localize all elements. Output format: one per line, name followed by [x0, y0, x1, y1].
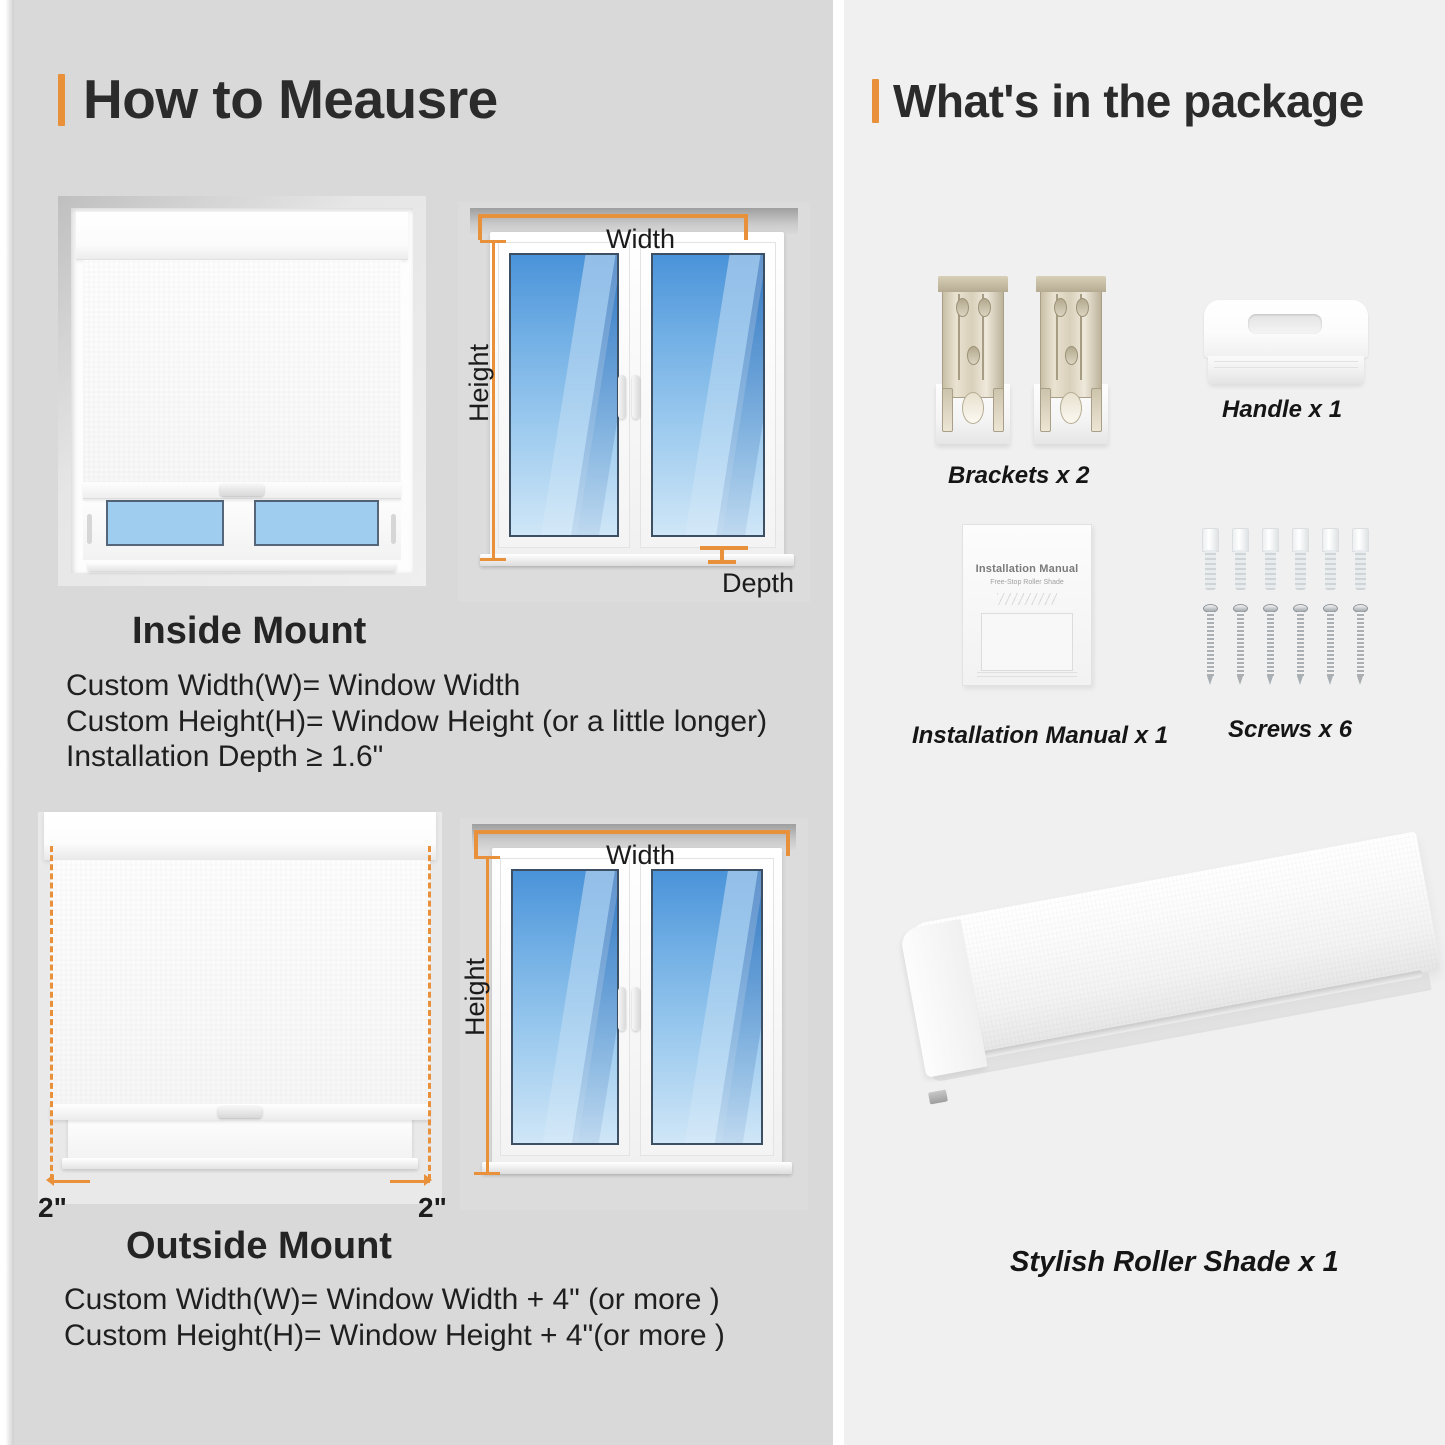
overhang-label-right: 2" [418, 1192, 447, 1224]
bracket-hole [967, 346, 980, 365]
window-glass-left [509, 253, 619, 537]
bracket-hole [1076, 298, 1089, 317]
window-sash-left [498, 242, 630, 548]
anchor-body [1355, 550, 1366, 590]
infographic-page: How to Meausre [0, 0, 1445, 1445]
heading-left-text: How to Meausre [83, 72, 498, 127]
roller-shade-image [905, 885, 1435, 1215]
heading-right-text: What's in the package [893, 78, 1364, 124]
window-glass-left [511, 869, 619, 1145]
window-glass-right [651, 253, 765, 537]
roller-shade-label: Stylish Roller Shade x 1 [1010, 1246, 1339, 1279]
height-label: Height [464, 344, 495, 422]
handle-body [1204, 300, 1368, 358]
depth-marker-line [700, 546, 748, 550]
width-marker-line [480, 214, 748, 218]
how-to-measure-heading: How to Meausre [58, 72, 498, 127]
window-handle-right [632, 987, 640, 1031]
handle-slot [1248, 314, 1322, 334]
anchor-head [1292, 528, 1309, 552]
screw-tip [1327, 676, 1333, 685]
bracket-2 [1034, 276, 1108, 444]
wall-anchor-4 [1292, 528, 1309, 590]
outside-mount-title: Outside Mount [126, 1225, 392, 1268]
screw-1 [1203, 604, 1218, 684]
manual-cover-subtitle: Free-Stop Roller Shade [971, 579, 1083, 586]
bracket-hole [956, 298, 969, 317]
screw-shaft [1267, 612, 1274, 678]
screw-shaft [1357, 612, 1364, 678]
screws-image [1202, 528, 1376, 686]
depth-label: Depth [722, 568, 794, 599]
width-label: Width [606, 840, 675, 871]
roller-shade-wrap [905, 885, 1435, 1215]
handle-groove [1214, 361, 1358, 362]
installation-manual-label: Installation Manual x 1 [912, 722, 1168, 750]
overhang-arrow-left [50, 1180, 90, 1183]
height-marker-top-tick [480, 240, 506, 243]
wall-anchor-2 [1232, 528, 1249, 590]
bracket-top-flange [1036, 276, 1106, 292]
panel-divider [833, 0, 844, 1445]
outside-mount-line-1: Custom Width(W)= Window Width + 4" (or m… [64, 1282, 725, 1318]
window-sill [88, 562, 396, 571]
wall-anchor-3 [1262, 528, 1279, 590]
outside-mount-window-diagram: Width Height [460, 818, 808, 1210]
depth-marker-base [708, 560, 736, 564]
inside-mount-shade-illustration [58, 196, 426, 586]
window-handle-right [632, 375, 640, 419]
shade-pull-grip [220, 484, 264, 496]
window-sill [62, 1158, 418, 1169]
bracket-hole [978, 298, 991, 317]
width-marker-line [476, 830, 790, 834]
outside-mount-shade-illustration [38, 812, 442, 1204]
height-marker-top-tick [474, 856, 500, 859]
manual-cover-illustration [981, 613, 1073, 671]
width-marker-right-tick [786, 830, 790, 856]
inside-mount-text: Custom Width(W)= Window Width Custom Hei… [66, 668, 767, 775]
handle-image [1204, 300, 1368, 388]
bracket-center-oval [962, 392, 984, 424]
handle-label: Handle x 1 [1222, 396, 1342, 424]
width-marker-left-tick [474, 830, 478, 856]
whats-in-package-heading: What's in the package [872, 78, 1364, 124]
shade-pull-grip [218, 1106, 262, 1118]
manual-cover: Installation Manual Free-Stop Roller Sha… [962, 524, 1092, 686]
manual-cover-footer [977, 669, 1077, 677]
screw-tip [1357, 676, 1363, 685]
bracket-body [942, 276, 1004, 398]
screw-shaft [1207, 612, 1214, 678]
anchor-body [1205, 550, 1216, 590]
window-latch-right [391, 514, 396, 544]
bracket-slot-right [1091, 388, 1102, 432]
outside-mount-text: Custom Width(W)= Window Width + 4" (or m… [64, 1282, 725, 1353]
bracket-hole [1065, 346, 1078, 365]
bracket-slot-left [1040, 388, 1051, 432]
height-label: Height [460, 958, 491, 1036]
screws-label: Screws x 6 [1228, 716, 1352, 744]
overhang-guide-right [428, 846, 431, 1180]
anchor-head [1262, 528, 1279, 552]
shade-headrail [44, 812, 436, 860]
arrow-head-left [46, 1174, 54, 1186]
inside-mount-line-1: Custom Width(W)= Window Width [66, 668, 767, 704]
handle-groove [1214, 367, 1358, 368]
wall-anchor-1 [1202, 528, 1219, 590]
anchor-body [1295, 550, 1306, 590]
roller-shade-end-pin [928, 1089, 948, 1104]
glass-pane-right [254, 500, 379, 546]
width-marker-right-tick [744, 214, 748, 240]
installation-manual-image: Installation Manual Free-Stop Roller Sha… [962, 524, 1092, 686]
shade-fabric [50, 860, 430, 1116]
manual-cover-title: Installation Manual [971, 563, 1083, 575]
width-marker-left-tick [478, 214, 482, 240]
bracket-slot-left [942, 388, 953, 432]
width-label: Width [606, 224, 675, 255]
bracket-body [1040, 276, 1102, 398]
brackets-image [936, 276, 1108, 444]
screw-tip [1207, 676, 1213, 685]
screw-tip [1237, 676, 1243, 685]
screw-2 [1233, 604, 1248, 684]
handle-base [1208, 356, 1364, 384]
shade-headrail [76, 212, 408, 260]
height-marker-bottom-tick [480, 558, 506, 561]
screw-shaft [1297, 612, 1304, 678]
anchor-body [1235, 550, 1246, 590]
outside-mount-line-2: Custom Height(H)= Window Height + 4"(or … [64, 1318, 725, 1354]
bracket-center-oval [1060, 392, 1082, 424]
anchor-head [1352, 528, 1369, 552]
anchor-body [1265, 550, 1276, 590]
screw-3 [1263, 604, 1278, 684]
overhang-label-left: 2" [38, 1192, 67, 1224]
inside-mount-line-2: Custom Height(H)= Window Height (or a li… [66, 704, 767, 740]
bracket-1 [936, 276, 1010, 444]
bracket-top-flange [938, 276, 1008, 292]
manual-cover-scribble [997, 593, 1057, 605]
window-sill [482, 1162, 792, 1174]
screw-tip [1267, 676, 1273, 685]
window-sash-right [640, 858, 774, 1156]
window-handle-left [618, 375, 626, 419]
anchor-head [1202, 528, 1219, 552]
screw-5 [1323, 604, 1338, 684]
anchor-head [1232, 528, 1249, 552]
arrow-head-right [424, 1174, 432, 1186]
bracket-slot-right [993, 388, 1004, 432]
accent-bar-left [58, 74, 65, 126]
screw-6 [1353, 604, 1368, 684]
accent-bar-right [872, 79, 879, 123]
glass-pane-left [106, 500, 224, 546]
screw-tip [1297, 676, 1303, 685]
window-sill [480, 554, 794, 566]
wall-anchor-6 [1352, 528, 1369, 590]
brackets-label: Brackets x 2 [948, 462, 1089, 490]
inside-mount-window-diagram: Width Height Depth [458, 202, 810, 602]
bracket-hole [1054, 298, 1067, 317]
anchor-head [1322, 528, 1339, 552]
anchor-body [1325, 550, 1336, 590]
window-frame [492, 848, 782, 1170]
shade-fabric [83, 260, 401, 488]
window-sash-right [640, 242, 776, 548]
window-latch-left [87, 514, 92, 544]
height-marker-bottom-tick [474, 1172, 500, 1175]
screw-4 [1293, 604, 1308, 684]
window-sash-left [500, 858, 630, 1156]
wall-anchor-5 [1322, 528, 1339, 590]
window-handle-left [618, 987, 626, 1031]
window-glass-right [651, 869, 763, 1145]
screw-shaft [1327, 612, 1334, 678]
inside-mount-title: Inside Mount [132, 610, 366, 653]
screw-shaft [1237, 612, 1244, 678]
window-frame [490, 232, 784, 562]
overhang-guide-left [50, 846, 53, 1180]
inside-mount-line-3: Installation Depth ≥ 1.6" [66, 739, 767, 775]
